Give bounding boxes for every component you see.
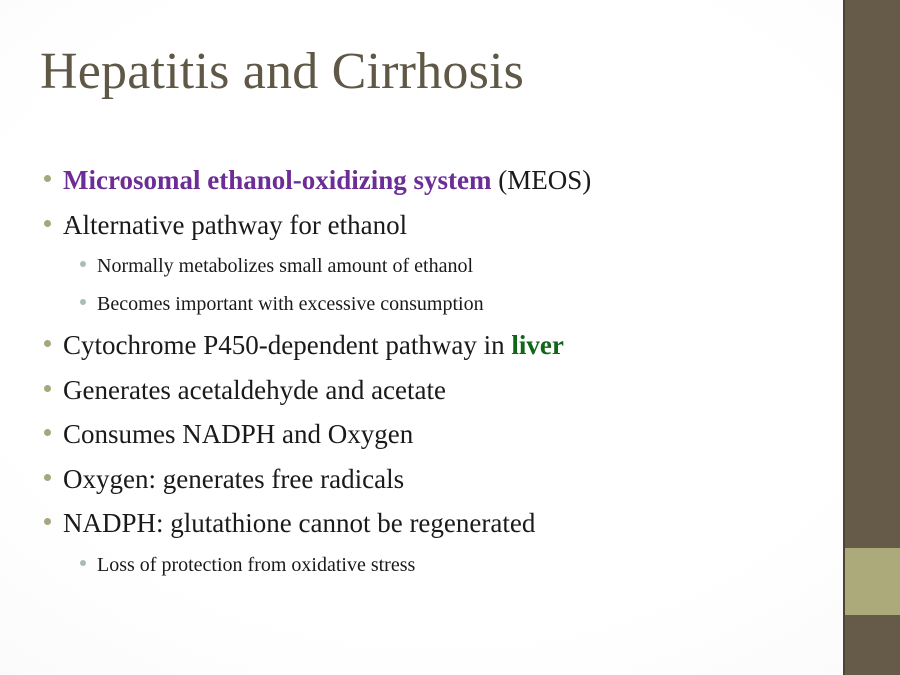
list-item: Loss of protection from oxidative stress [44,546,824,584]
list-item: Consumes NADPH and Oxygen [44,412,824,457]
list-item: Becomes important with excessive consump… [44,285,824,323]
bullet-dot-icon [44,385,51,392]
bullet-dot-icon [44,175,51,182]
list-item-label: Generates acetaldehyde and acetate [63,368,446,413]
list-item-label: Loss of protection from oxidative stress [97,546,415,584]
list-item-label-rest: (MEOS) [491,165,591,195]
bullet-dot-icon [44,340,51,347]
emphasis-text: Microsomal ethanol-oxidizing system [63,165,491,195]
emphasis-text: liver [511,330,563,360]
list-item: Normally metabolizes small amount of eth… [44,247,824,285]
list-item-label-prefix: Cytochrome P450-dependent pathway in [63,330,511,360]
list-item-label: Alternative pathway for ethanol [63,203,407,248]
list-item-label: Microsomal ethanol-oxidizing system (MEO… [63,158,591,203]
list-item: Oxygen: generates free radicals [44,457,824,502]
list-item-label: Becomes important with excessive consump… [97,285,484,323]
list-item: Alternative pathway for ethanol [44,203,824,248]
bullet-dot-icon [80,560,86,566]
bullet-dot-icon [44,474,51,481]
bullet-list: Microsomal ethanol-oxidizing system (MEO… [44,158,824,584]
list-item: Generates acetaldehyde and acetate [44,368,824,413]
list-item: Cytochrome P450-dependent pathway in liv… [44,323,824,368]
list-item-label: NADPH: glutathione cannot be regenerated [63,501,535,546]
bullet-dot-icon [44,518,51,525]
slide-canvas: Hepatitis and Cirrhosis Microsomal ethan… [0,0,900,675]
list-item-label: Cytochrome P450-dependent pathway in liv… [63,323,564,368]
side-band-khaki-stripe [845,548,900,615]
side-band-dark-bottom [845,615,900,675]
stray-speck-artifact [67,221,70,224]
bullet-dot-icon [44,429,51,436]
bullet-dot-icon [80,261,86,267]
bullet-dot-icon [44,220,51,227]
list-item: NADPH: glutathione cannot be regenerated [44,501,824,546]
list-item-label: Consumes NADPH and Oxygen [63,412,413,457]
list-item-label: Oxygen: generates free radicals [63,457,404,502]
list-item: Microsomal ethanol-oxidizing system (MEO… [44,158,824,203]
slide-title: Hepatitis and Cirrhosis [40,44,810,100]
list-item-label: Normally metabolizes small amount of eth… [97,247,473,285]
bullet-dot-icon [80,299,86,305]
